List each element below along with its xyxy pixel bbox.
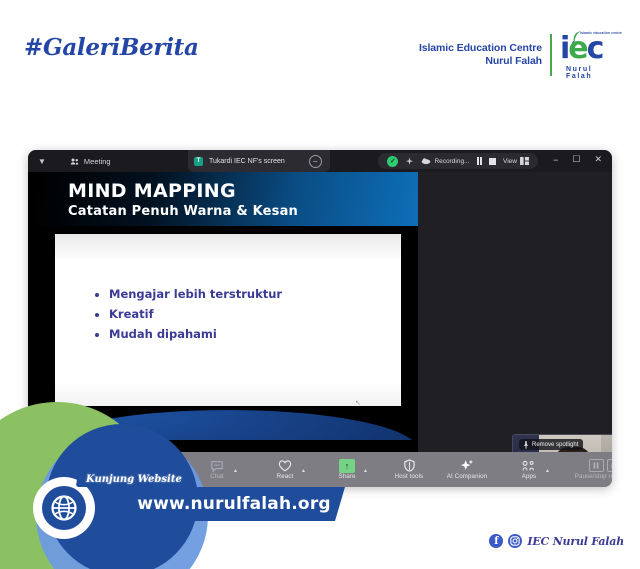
- window-controls: − ☐ ✕: [553, 154, 602, 165]
- logo-footer-text: Nurul Falah: [566, 66, 622, 80]
- meeting-backdrop: [418, 172, 612, 452]
- stop-icon[interactable]: [489, 158, 496, 165]
- heart-icon: [278, 459, 292, 472]
- toolbar-item-react[interactable]: React ▲: [262, 459, 308, 480]
- page-title: #GaleriBerita: [24, 34, 199, 61]
- remove-spotlight-button[interactable]: Remove spotlight: [519, 439, 583, 450]
- pause-stop-recording-icon: [589, 459, 613, 472]
- layout-icon: [520, 157, 529, 165]
- tab-badge-icon: T: [194, 157, 203, 166]
- chevron-down-icon[interactable]: ▼: [38, 157, 46, 166]
- slide-title: MIND MAPPING: [68, 180, 236, 202]
- view-label: View: [503, 158, 517, 165]
- stop-glyph: [607, 459, 613, 472]
- minimize-circle-icon[interactable]: −: [309, 155, 322, 168]
- website-bar[interactable]: www.nurulfalah.org: [95, 487, 345, 521]
- chevron-up-icon[interactable]: ▲: [301, 468, 306, 474]
- shared-screen-tab[interactable]: T Tukardi IEC NF's screen −: [188, 150, 330, 172]
- close-icon[interactable]: ✕: [594, 154, 602, 165]
- globe-icon: [49, 493, 79, 523]
- social-handle: IEC Nurul Falah: [527, 535, 624, 548]
- logo-wordmark: iec: [560, 34, 622, 64]
- toolbar-label-pause-stop-recording: Pause/stop recording: [575, 473, 612, 480]
- pin-icon: [523, 441, 529, 449]
- apps-grid-icon: [522, 459, 536, 472]
- toolbar-item-pause-stop-recording[interactable]: Pause/stop recording: [566, 459, 612, 480]
- toolbar-item-share[interactable]: ↑ Share ▲: [324, 459, 370, 480]
- toolbar-item-apps[interactable]: Apps ▲: [506, 459, 552, 480]
- toolbar-label-ai-companion: AI Companion: [447, 473, 487, 480]
- sparkle-icon[interactable]: [405, 157, 414, 166]
- chevron-up-icon[interactable]: ▲: [233, 468, 238, 474]
- globe-badge: [36, 480, 92, 536]
- chevron-up-icon[interactable]: ▲: [363, 468, 368, 474]
- toolbar-label-react: React: [277, 473, 294, 480]
- shield-check-icon[interactable]: ✓: [387, 156, 398, 167]
- share-screen-icon: ↑: [339, 459, 355, 472]
- toolbar-label-share: Share: [338, 473, 355, 480]
- brand-text: Islamic Education Centre Nurul Falah: [419, 42, 542, 68]
- list-item: Kreatif: [109, 304, 282, 324]
- toolbar-label-chat: Chat: [210, 473, 223, 480]
- toolbar-item-host-tools[interactable]: Host tools: [386, 459, 432, 480]
- meeting-tab-label: Meeting: [84, 157, 111, 166]
- slide-content-card: Mengajar lebih terstruktur Kreatif Mudah…: [55, 234, 401, 406]
- visit-website-label: Kunjung Website: [86, 474, 182, 485]
- toolbar-label-host-tools: Host tools: [395, 473, 424, 480]
- presentation-slide: MIND MAPPING Catatan Penuh Warna & Kesan…: [38, 172, 418, 440]
- participants-icon: [70, 157, 79, 166]
- recording-label: Recording...: [434, 158, 469, 165]
- titlebar-status-group: ✓ Recording... View: [378, 153, 538, 169]
- minimize-icon[interactable]: −: [553, 155, 558, 165]
- recording-status[interactable]: Recording...: [421, 157, 469, 165]
- slide-bullet-list: Mengajar lebih terstruktur Kreatif Mudah…: [95, 284, 282, 344]
- logo-letter-c: c: [587, 31, 603, 66]
- window-titlebar: ▼ Meeting T Tukardi IEC NF's screen − ✓: [28, 150, 612, 172]
- view-switcher[interactable]: View: [503, 157, 529, 165]
- list-item: Mengajar lebih terstruktur: [109, 284, 282, 304]
- pause-icon[interactable]: [477, 157, 483, 165]
- mouse-cursor-icon: ↖: [355, 399, 361, 407]
- shared-screen-tab-label: Tukardi IEC NF's screen: [209, 158, 285, 165]
- recording-cloud-icon: [421, 157, 431, 165]
- globe-badge-inner: [42, 486, 86, 530]
- slide-subtitle: Catatan Penuh Warna & Kesan: [68, 204, 298, 219]
- share-screen-glyph: ↑: [339, 459, 355, 473]
- remove-spotlight-label: Remove spotlight: [532, 442, 578, 448]
- facebook-icon[interactable]: f: [489, 534, 503, 548]
- chat-icon: [210, 459, 224, 472]
- iec-logo: islamic education centre iec Nurul Falah: [560, 30, 622, 80]
- toolbar-item-ai-companion[interactable]: AI Companion: [438, 459, 496, 480]
- brand-lockup: Islamic Education Centre Nurul Falah isl…: [419, 30, 622, 80]
- toolbar-label-apps: Apps: [522, 473, 537, 480]
- brand-line-2: Nurul Falah: [419, 55, 542, 68]
- pause-glyph: [589, 459, 604, 472]
- social-row: f IEC Nurul Falah: [489, 534, 624, 548]
- instagram-icon[interactable]: [508, 534, 522, 548]
- poster-canvas: #GaleriBerita Islamic Education Centre N…: [0, 0, 640, 569]
- maximize-icon[interactable]: ☐: [572, 154, 580, 165]
- visit-website-badge: Kunjung Website: [76, 472, 192, 487]
- list-item: Mudah dipahami: [109, 324, 282, 344]
- brand-divider: [550, 34, 552, 76]
- sparkle-icon: [460, 459, 474, 472]
- shield-icon: [403, 459, 416, 472]
- website-url: www.nurulfalah.org: [109, 494, 331, 514]
- meeting-tab[interactable]: Meeting: [70, 157, 111, 166]
- brand-line-1: Islamic Education Centre: [419, 42, 542, 55]
- logo-letter-e: e: [568, 31, 586, 66]
- chevron-up-icon[interactable]: ▲: [545, 468, 550, 474]
- toolbar-item-chat[interactable]: Chat ▲: [194, 459, 240, 480]
